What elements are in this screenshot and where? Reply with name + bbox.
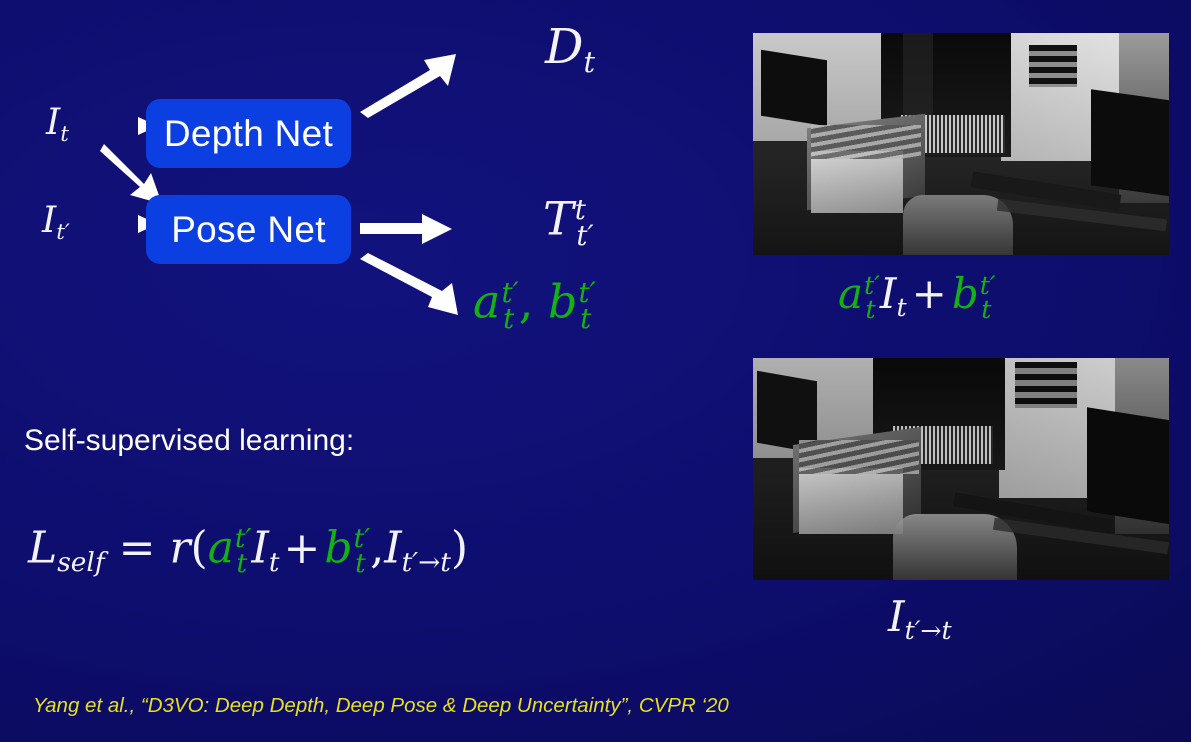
self-supervised-loss-equation: Lself = r(at′tIt+bt′t,It′→t) [28, 525, 468, 577]
citation: Yang et al., “D3VO: Deep Depth, Deep Pos… [33, 694, 729, 718]
brightness-params-output-label: at′t, bt′t [473, 278, 596, 333]
depth-output-label: Dt [545, 23, 595, 71]
eq-brightness-a: a [208, 523, 234, 574]
eq-warped-image: I [384, 523, 401, 574]
arrow-pose-net-to-brightness-output [358, 253, 460, 319]
depth-net-box[interactable]: Depth Net [146, 99, 351, 168]
depth-net-label: Depth Net [164, 113, 333, 155]
input-image-t-prime-label: It′ [42, 203, 70, 239]
eq-residual-fn: r [169, 523, 190, 574]
pose-net-box[interactable]: Pose Net [146, 195, 351, 264]
eq-close-paren: ) [451, 523, 468, 574]
photo-warped-source [753, 358, 1169, 580]
eq-brightness-b: b [324, 523, 352, 574]
eq-image-t: I [252, 523, 269, 574]
eq-open-paren: ( [191, 523, 208, 574]
arrow-depth-net-to-depth-output [358, 48, 458, 120]
pose-net-label: Pose Net [171, 209, 326, 251]
section-label-self-supervised: Self-supervised learning: [24, 424, 354, 458]
slide-canvas: It It′ Depth Net Pose Net Dt Ttt′ [0, 0, 1191, 742]
eq-lhs: L [28, 523, 57, 574]
photo-brightness-corrected [753, 33, 1169, 255]
pose-output-label: Ttt′ [543, 195, 594, 250]
arrow-pose-net-to-pose-output [360, 212, 454, 246]
photo-warped-source-caption: It′→t [888, 596, 952, 638]
eq-equals: = [119, 523, 156, 574]
eq-plus: + [280, 523, 325, 574]
eq-comma: , [370, 523, 384, 574]
input-image-t-label: It [46, 105, 69, 141]
photo-brightness-corrected-caption: at′tIt+bt′t [838, 272, 996, 322]
